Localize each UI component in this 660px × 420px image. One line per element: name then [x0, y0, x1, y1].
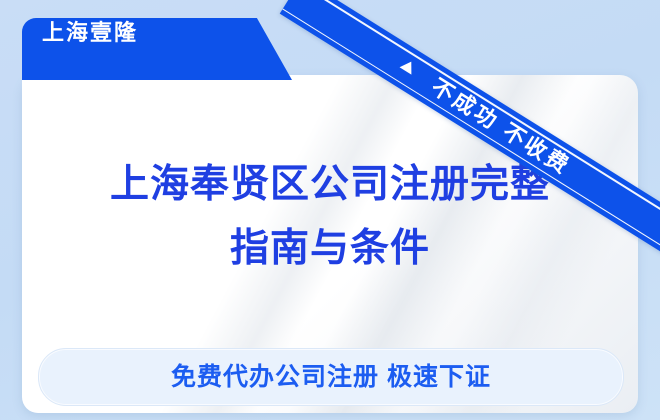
cta-button-label: 免费代办公司注册 极速下证 — [39, 349, 623, 405]
content-card: 上海奉贤区公司注册完整 指南与条件 免费代办公司注册 极速下证 — [22, 75, 638, 413]
triangle-up-icon — [400, 58, 418, 75]
page-title-line-2: 指南与条件 — [22, 217, 638, 281]
brand-tab-label: 上海壹隆 — [42, 15, 138, 47]
promo-banner: 上海奉贤区公司注册完整 指南与条件 免费代办公司注册 极速下证 上海壹隆 不成功… — [0, 0, 660, 420]
cta-button[interactable]: 免费代办公司注册 极速下证 — [38, 348, 624, 406]
